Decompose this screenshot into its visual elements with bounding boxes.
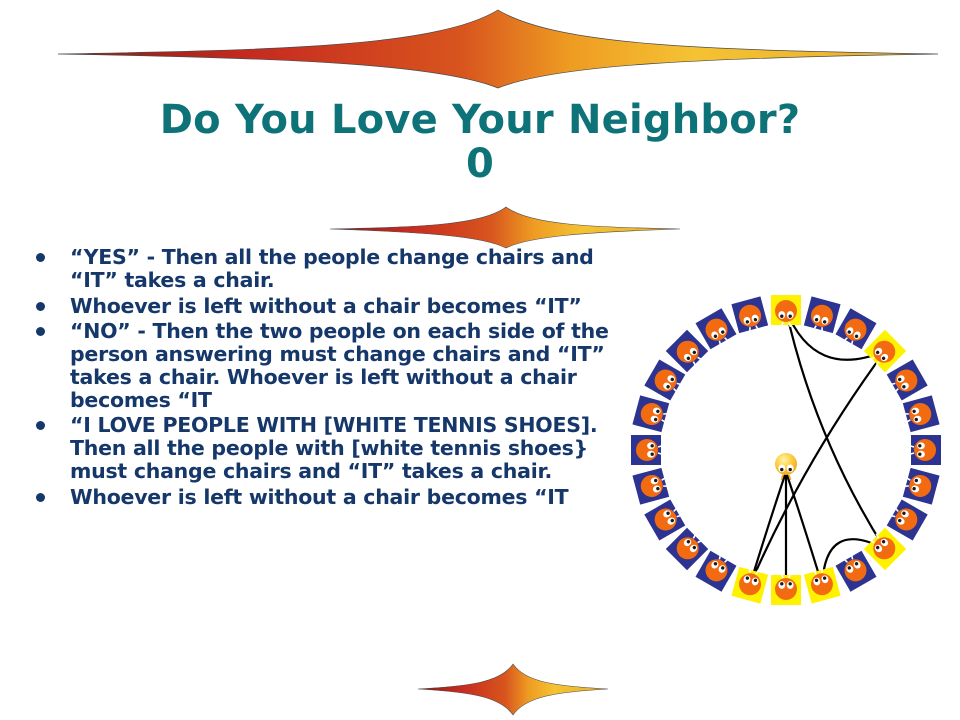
- chair-highlighted: [771, 573, 801, 605]
- chair: [901, 467, 940, 504]
- list-item: “NO” - Then the two people on each side …: [28, 320, 628, 411]
- round-bullet-icon: [36, 327, 45, 336]
- chair: [631, 435, 663, 465]
- chair: [909, 435, 941, 465]
- chair: [632, 395, 671, 432]
- chair-highlighted: [731, 565, 768, 604]
- person-pupil: [789, 315, 792, 318]
- person-head: [775, 578, 797, 600]
- connector-line: [750, 351, 885, 585]
- four-point-star-ornament-middle: [330, 205, 680, 249]
- list-item: “I LOVE PEOPLE WITH [WHITE TENNIS SHOES]…: [28, 414, 628, 482]
- four-point-star-ornament-bottom: [418, 662, 608, 716]
- person-pupil: [918, 444, 921, 447]
- person-pupil: [651, 453, 654, 456]
- person-head: [775, 300, 797, 322]
- title-line-primary: Do You Love Your Neighbor?: [0, 100, 960, 140]
- center-person-pupil: [780, 468, 783, 471]
- chair: [803, 296, 840, 335]
- person-pupil: [651, 444, 654, 447]
- list-item-label: “NO” - Then the two people on each side …: [70, 320, 628, 411]
- connector-line: [786, 472, 822, 585]
- round-bullet-icon: [36, 253, 45, 262]
- list-item: Whoever is left without a chair becomes …: [28, 486, 628, 509]
- center-person-pupil: [789, 468, 792, 471]
- chair-highlighted: [803, 565, 840, 604]
- list-item: “YES” - Then all the people change chair…: [28, 246, 628, 292]
- person-head: [914, 439, 936, 461]
- four-point-star-ornament-top: [58, 8, 938, 90]
- chair: [901, 395, 940, 432]
- list-item: Whoever is left without a chair becomes …: [28, 295, 628, 318]
- list-item-label: “YES” - Then all the people change chair…: [70, 246, 628, 292]
- bullet-list: “YES” - Then all the people change chair…: [28, 246, 628, 511]
- title-line-secondary: 0: [0, 144, 960, 184]
- list-item-label: Whoever is left without a chair becomes …: [70, 486, 628, 509]
- person-pupil: [918, 453, 921, 456]
- connector-lines: [750, 310, 885, 590]
- connector-line: [750, 472, 786, 585]
- chair: [632, 467, 671, 504]
- person-pupil: [789, 582, 792, 585]
- round-bullet-icon: [36, 302, 45, 311]
- round-bullet-icon: [36, 493, 45, 502]
- slide-canvas: Do You Love Your Neighbor? 0 “YES” - The…: [0, 0, 960, 720]
- page-title: Do You Love Your Neighbor? 0: [0, 100, 960, 184]
- chair-highlighted: [771, 295, 801, 327]
- list-item-label: Whoever is left without a chair becomes …: [70, 295, 628, 318]
- round-bullet-icon: [36, 421, 45, 430]
- person-head: [636, 439, 658, 461]
- list-item-label: “I LOVE PEOPLE WITH [WHITE TENNIS SHOES]…: [70, 414, 628, 482]
- circle-of-chairs-diagram: [618, 282, 954, 618]
- chair: [731, 296, 768, 335]
- person-pupil: [780, 315, 783, 318]
- center-person-head: [775, 453, 797, 475]
- person-pupil: [780, 582, 783, 585]
